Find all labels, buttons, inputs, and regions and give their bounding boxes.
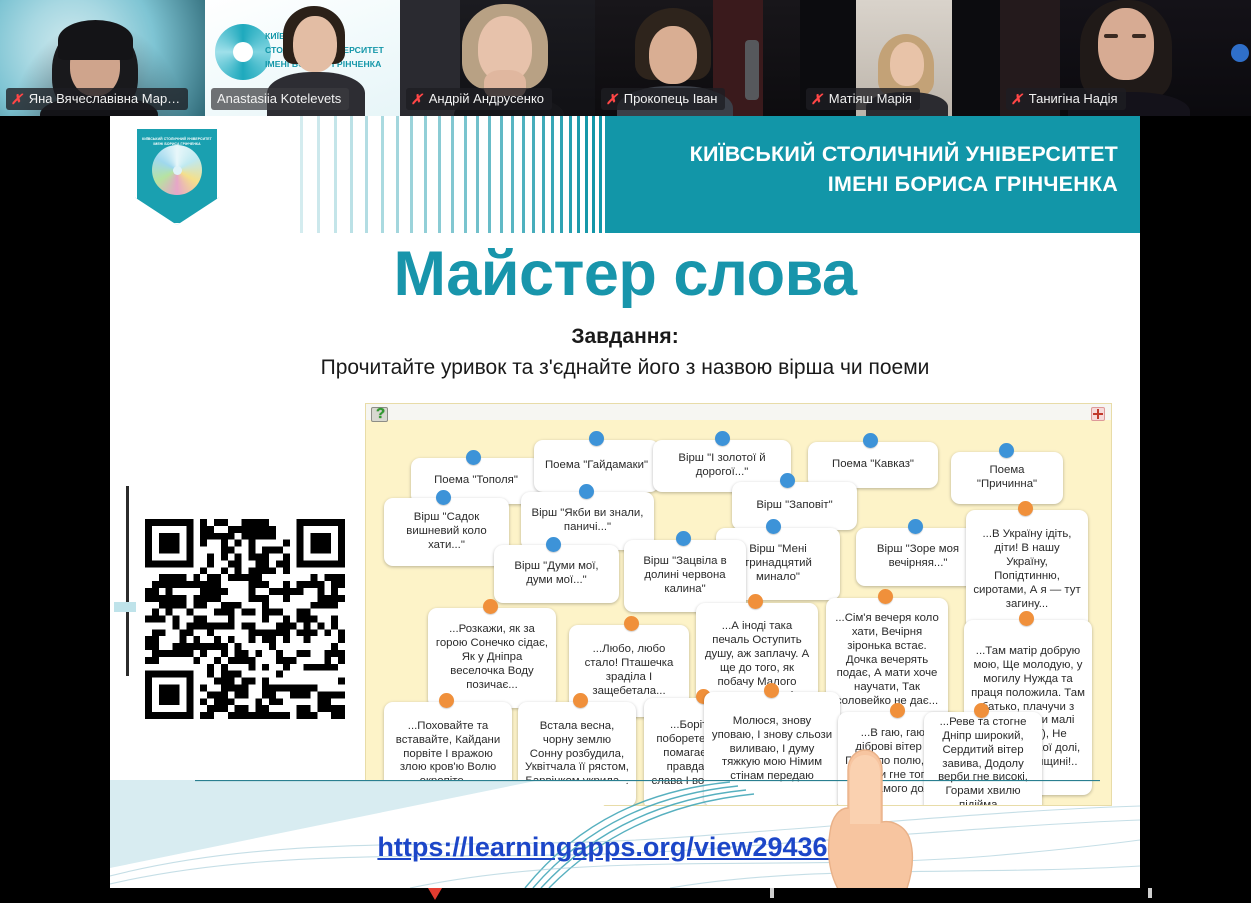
learningapp-card[interactable]: Поема "Гайдамаки" [534, 440, 659, 492]
screen: ✗ Яна Вячеславівна Мар… КИЇВСЬКИЙСТОЛИЧН… [0, 0, 1251, 903]
learningapps-embed[interactable]: Поема "Тополя"Поема "Гайдамаки"Вірш "І з… [365, 403, 1112, 806]
mic-off-icon: ✗ [1010, 92, 1025, 106]
participant-name: Танигіна Надія [1029, 91, 1118, 106]
learningapp-card[interactable]: ...Сім'я вечеря коло хати, Вечірня зірон… [826, 598, 948, 723]
learningapps-url-link[interactable]: https://learningapps.org/view29436904 [110, 832, 1140, 863]
university-name-line1: КИЇВСЬКИЙ СТОЛИЧНИЙ УНІВЕРСИТЕТ [618, 140, 1118, 170]
qr-code-image [145, 519, 345, 719]
learningapp-card[interactable]: Вірш "Садок вишневий коло хати..." [384, 498, 509, 566]
university-name: КИЇВСЬКИЙ СТОЛИЧНИЙ УНІВЕРСИТЕТ ІМЕНІ БО… [618, 140, 1118, 199]
learningapp-card[interactable]: Вірш "Зацвіла в долині червона калина" [624, 540, 746, 612]
participant-name-badge: ✗ Матіяш Марія [806, 88, 920, 110]
red-marker-icon [428, 888, 442, 900]
participant-name: Матіяш Марія [829, 91, 912, 106]
card-text: ...Поховайте та вставайте, Кайдани порві… [391, 720, 505, 790]
card-connector-dot-orange[interactable] [573, 693, 588, 708]
card-connector-dot-orange[interactable] [624, 616, 639, 631]
hand-pointer-cursor [810, 736, 920, 888]
slide-header: КИЇВСЬКИЙ СТОЛИЧНИЙ УНІВЕРСИТЕТ ІМЕНІ БО… [110, 116, 1140, 233]
participant-name-badge: ✗ Прокопець Іван [601, 88, 725, 110]
card-connector-dot-blue[interactable] [863, 433, 878, 448]
university-crest-logo: КИЇВСЬКИЙ СТОЛИЧНИЙ УНІВЕРСИТЕТ ІМЕНІ БО… [135, 127, 219, 225]
card-text: Поема "Причинна" [958, 464, 1056, 492]
left-edge-line [126, 486, 129, 676]
card-text: Поема "Гайдамаки" [545, 459, 648, 473]
card-connector-dot-blue[interactable] [766, 519, 781, 534]
learningapp-card[interactable]: Поема "Причинна" [951, 452, 1063, 504]
card-text: Вірш "Думи мої, думи мої..." [501, 560, 612, 588]
card-connector-dot-blue[interactable] [466, 450, 481, 465]
card-text: Вірш "Заповіт" [756, 499, 832, 513]
teal-accent-square [114, 602, 136, 612]
university-name-line2: ІМЕНІ БОРИСА ГРІНЧЕНКА [618, 170, 1118, 200]
card-connector-dot-blue[interactable] [780, 473, 795, 488]
header-stripe-decoration [300, 116, 645, 233]
participant-name-badge: ✗ Андрій Андрусенко [406, 88, 552, 110]
card-text: Вірш "Зацвіла в долині червона калина" [631, 555, 739, 597]
card-text: Вірш "Зоре моя вечірняя..." [863, 543, 973, 571]
card-connector-dot-orange[interactable] [1018, 501, 1033, 516]
participant-tile-active[interactable]: КИЇВСЬКИЙСТОЛИЧНИЙ УНІВЕРСИТЕТІМЕНІ БОРИ… [205, 0, 400, 116]
participant-name: Андрій Андрусенко [429, 91, 544, 106]
learningapp-card[interactable]: Вірш "Заповіт" [732, 482, 857, 530]
participant-name-badge: ✗ Танигіна Надія [1006, 88, 1126, 110]
participant-name: Прокопець Іван [624, 91, 718, 106]
card-connector-dot-orange[interactable] [764, 683, 779, 698]
card-text: Вірш "І золотої й дорогої..." [660, 452, 784, 480]
learningapp-card[interactable]: Вірш "Думи мої, думи мої..." [494, 545, 619, 603]
participant-tile[interactable]: ✗ Матіяш Марія [800, 0, 1000, 116]
white-marker-1 [770, 888, 774, 898]
card-connector-dot-blue[interactable] [999, 443, 1014, 458]
card-connector-dot-blue[interactable] [546, 537, 561, 552]
participant-tile[interactable]: ✗ Андрій Андрусенко [400, 0, 595, 116]
page-title: Майстер слова [110, 238, 1140, 310]
mic-off-icon: ✗ [410, 92, 425, 106]
card-text: ...Розкажи, як за горою Сонечко сідає, Я… [435, 623, 549, 693]
card-text: ...В Україну ідіть, діти! В нашу Україну… [973, 528, 1081, 611]
card-connector-dot-blue[interactable] [676, 531, 691, 546]
card-text: ...Сім'я вечеря коло хати, Вечірня зірон… [833, 612, 941, 709]
card-connector-dot-orange[interactable] [1019, 611, 1034, 626]
participant-name-badge: Anastasiia Kotelevets [211, 88, 349, 110]
participant-video-strip: ✗ Яна Вячеславівна Мар… КИЇВСЬКИЙСТОЛИЧН… [0, 0, 1251, 116]
card-connector-dot-orange[interactable] [483, 599, 498, 614]
card-connector-dot-blue[interactable] [436, 490, 451, 505]
card-text: Поема "Кавказ" [832, 458, 914, 472]
help-question-icon[interactable] [371, 407, 388, 422]
panel-toolbar [366, 404, 1111, 420]
crest-star-emblem [152, 145, 202, 195]
participant-name: Яна Вячеславівна Мар… [29, 91, 180, 106]
card-connector-dot-blue[interactable] [589, 431, 604, 446]
card-connector-dot-orange[interactable] [974, 703, 989, 718]
card-connector-dot-orange[interactable] [748, 594, 763, 609]
bottom-bar [0, 888, 1251, 903]
fullscreen-expand-icon[interactable] [1091, 407, 1105, 421]
card-text: Вірш "Садок вишневий коло хати..." [391, 511, 502, 553]
task-description: Прочитайте уривок та з'єднайте його з на… [110, 356, 1140, 380]
participant-tile[interactable]: ✗ Танигіна Надія [1000, 0, 1251, 116]
presentation-slide: КИЇВСЬКИЙ СТОЛИЧНИЙ УНІВЕРСИТЕТ ІМЕНІ БО… [110, 116, 1140, 888]
card-connector-dot-orange[interactable] [439, 693, 454, 708]
card-connector-dot-blue[interactable] [579, 484, 594, 499]
learningapp-card[interactable]: Вірш "Зоре моя вечірняя..." [856, 528, 980, 586]
participant-name: Anastasiia Kotelevets [217, 91, 341, 106]
participant-tile[interactable]: ✗ Прокопець Іван [595, 0, 800, 116]
card-text: Вірш "Якби ви знали, паничі..." [528, 507, 647, 535]
participant-name-badge: ✗ Яна Вячеславівна Мар… [6, 88, 188, 110]
card-text: Поема "Тополя" [434, 474, 518, 488]
mic-off-icon: ✗ [605, 92, 620, 106]
card-connector-dot-blue[interactable] [908, 519, 923, 534]
card-connector-dot-orange[interactable] [890, 703, 905, 718]
mic-off-icon: ✗ [10, 92, 25, 106]
card-connector-dot-blue[interactable] [715, 431, 730, 446]
card-text: ...Любо, любо стало! Пташечка зраділа І … [576, 643, 682, 699]
card-connector-dot-orange[interactable] [878, 589, 893, 604]
card-text: Встала весна, чорну землю Сонну розбудил… [525, 720, 629, 790]
qr-code [145, 519, 345, 719]
task-label: Завдання: [110, 325, 1140, 349]
white-marker-2 [1148, 888, 1152, 898]
mic-off-icon: ✗ [810, 92, 825, 106]
participant-tile[interactable]: ✗ Яна Вячеславівна Мар… [0, 0, 205, 116]
